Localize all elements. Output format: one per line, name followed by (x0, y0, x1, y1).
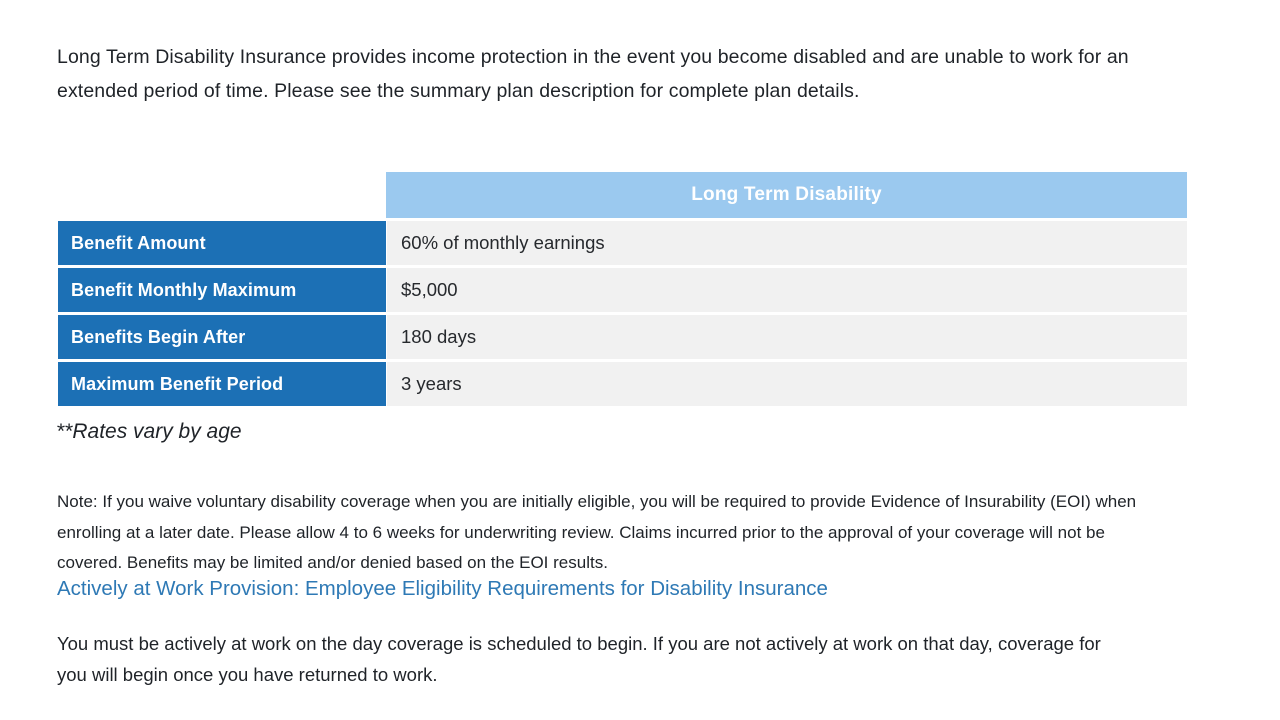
table-row: Benefit Monthly Maximum $5,000 (58, 268, 1187, 312)
actively-at-work-provision-paragraph: You must be actively at work on the day … (57, 628, 1122, 690)
row-value-benefits-begin-after: 180 days (387, 315, 1187, 359)
row-label-maximum-benefit-period: Maximum Benefit Period (58, 362, 386, 406)
row-label-benefits-begin-after: Benefits Begin After (58, 315, 386, 359)
actively-at-work-provision-heading: Actively at Work Provision: Employee Eli… (57, 575, 828, 603)
table-header-row: Long Term Disability (58, 172, 1187, 218)
table-row: Benefits Begin After 180 days (58, 315, 1187, 359)
row-label-benefit-monthly-maximum: Benefit Monthly Maximum (58, 268, 386, 312)
row-value-benefit-amount: 60% of monthly earnings (387, 221, 1187, 265)
rates-footnote: **Rates vary by age (56, 419, 242, 445)
row-label-benefit-amount: Benefit Amount (58, 221, 386, 265)
table-row: Maximum Benefit Period 3 years (58, 362, 1187, 406)
table-column-header-long-term-disability: Long Term Disability (386, 172, 1187, 218)
benefit-summary-table: Long Term Disability Benefit Amount 60% … (58, 172, 1187, 409)
table-row: Benefit Amount 60% of monthly earnings (58, 221, 1187, 265)
row-value-benefit-monthly-maximum: $5,000 (387, 268, 1187, 312)
document-page: Long Term Disability Insurance provides … (0, 0, 1280, 720)
row-value-maximum-benefit-period: 3 years (387, 362, 1187, 406)
eoi-note-paragraph: Note: If you waive voluntary disability … (57, 487, 1162, 579)
intro-paragraph: Long Term Disability Insurance provides … (57, 40, 1167, 108)
table-corner-spacer (58, 172, 386, 218)
